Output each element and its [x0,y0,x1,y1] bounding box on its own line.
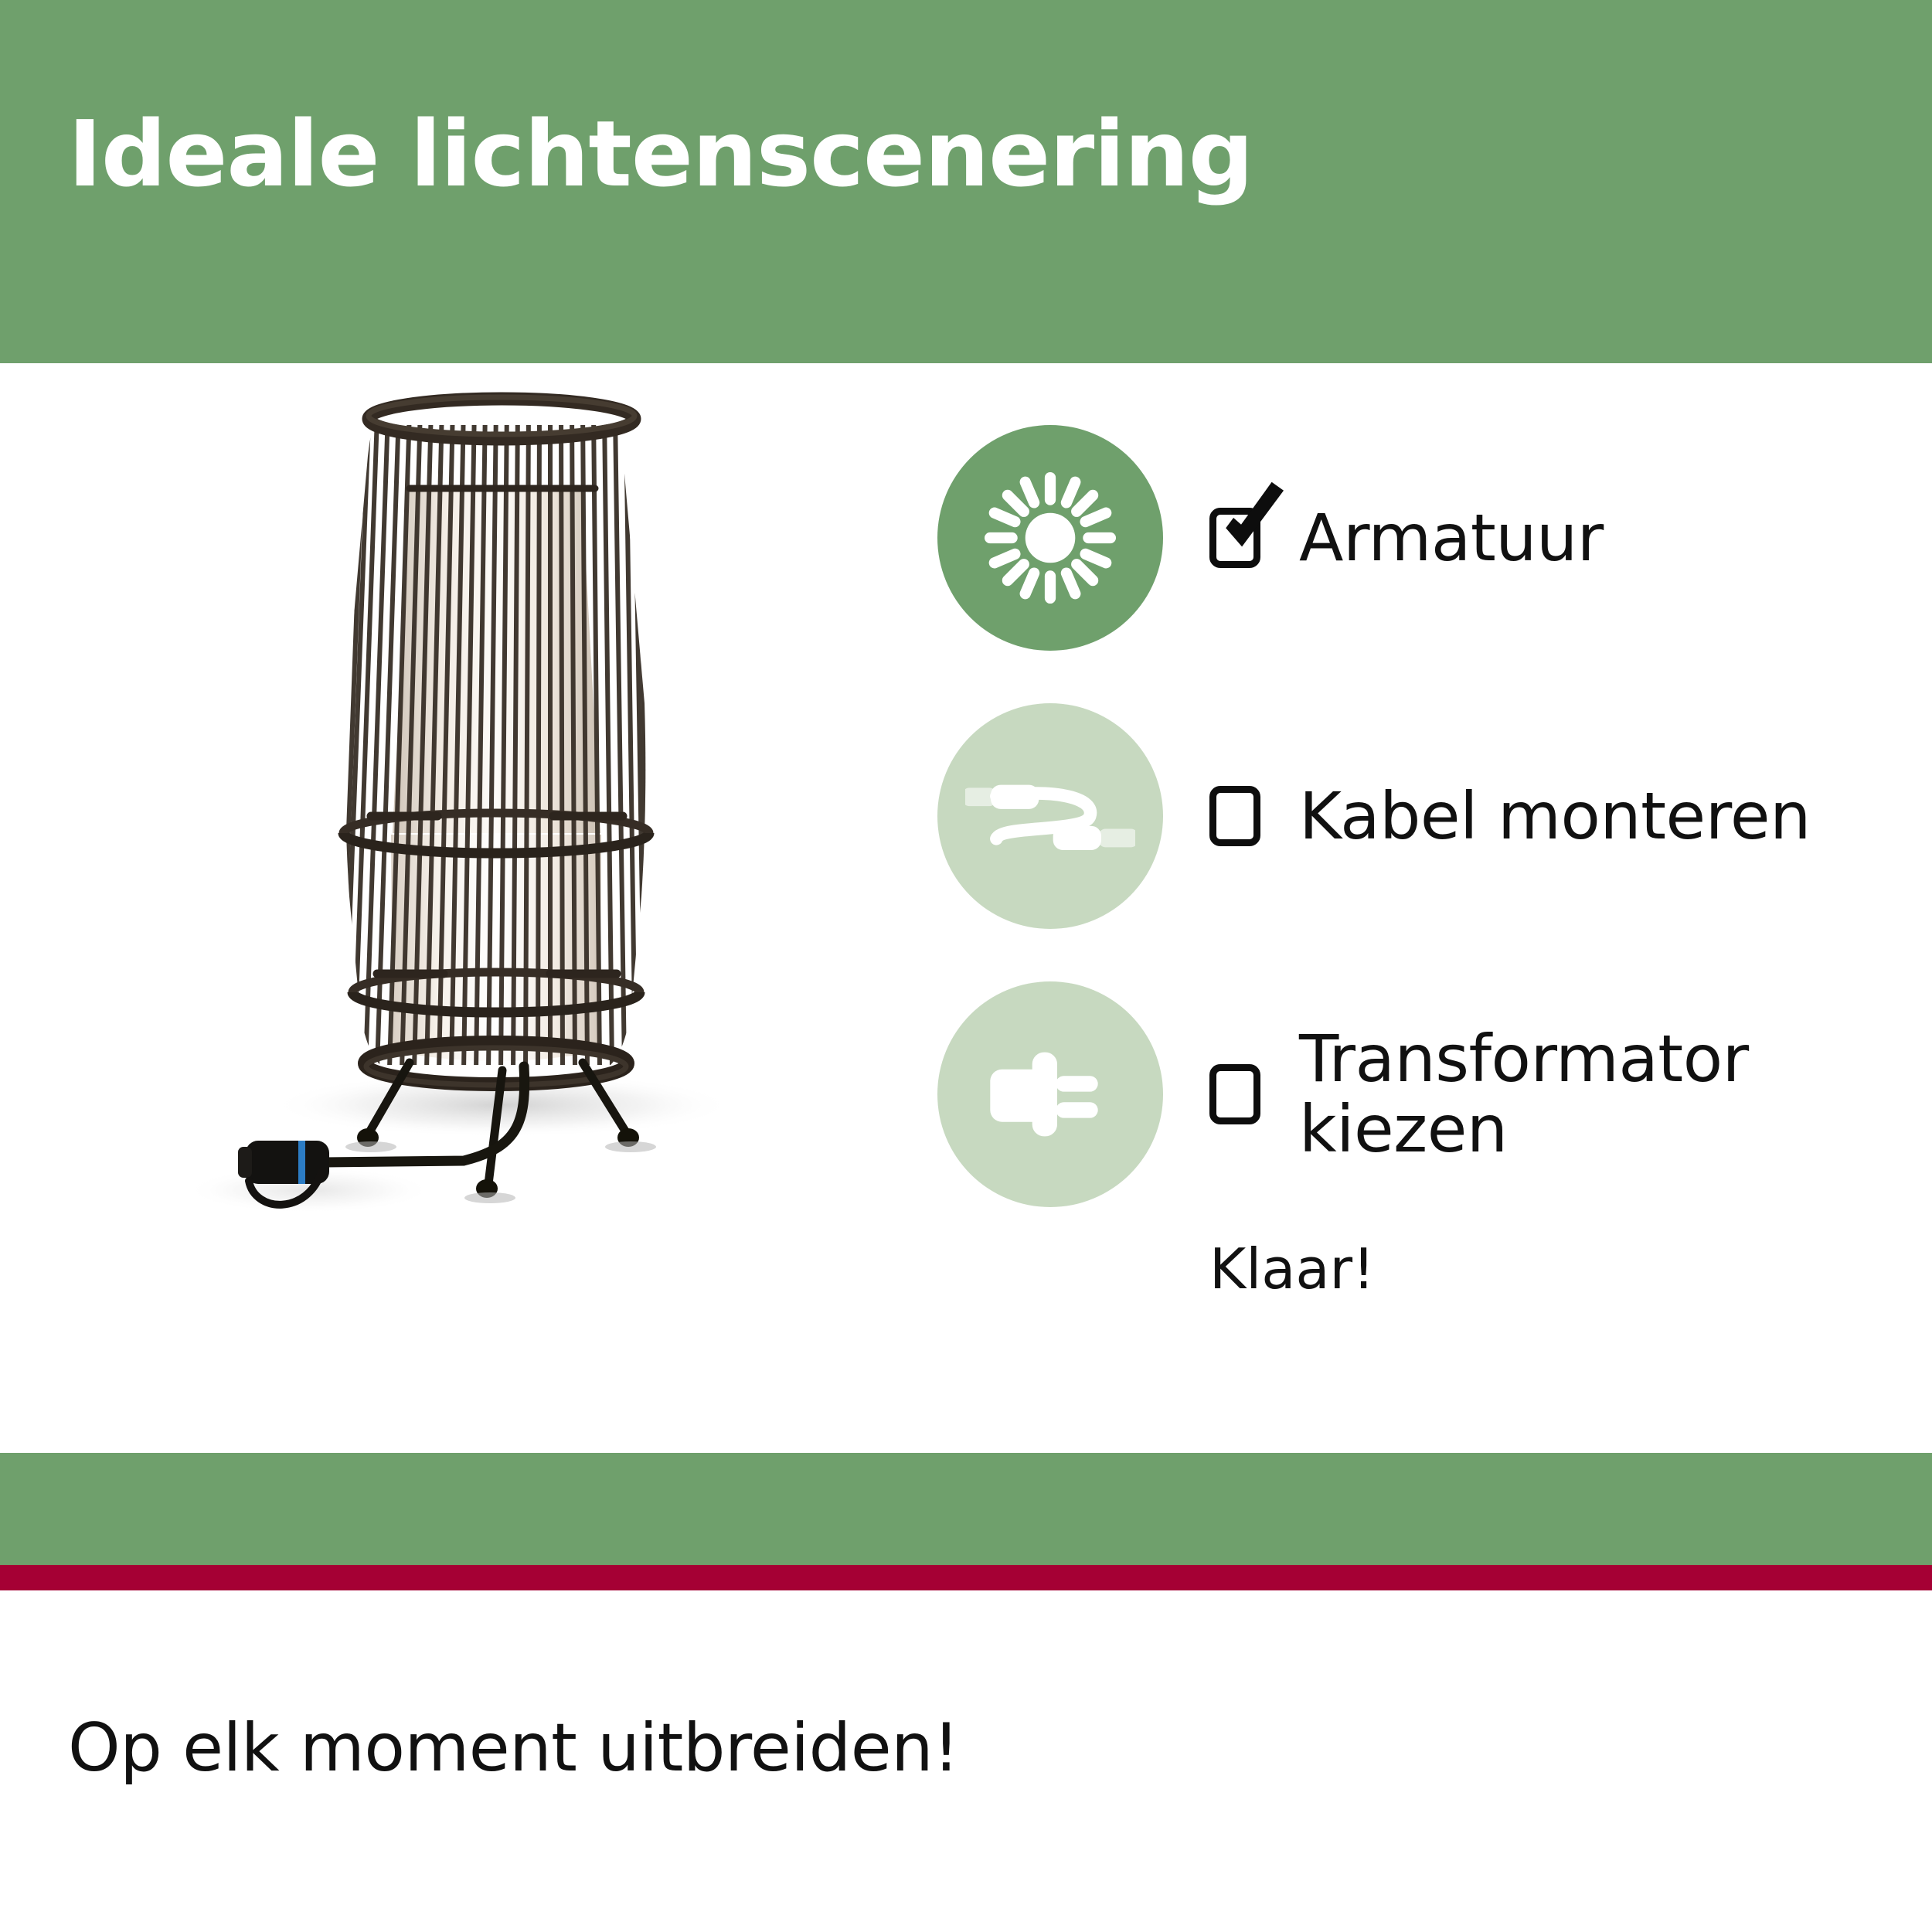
checklist-item-kabel[interactable]: Kabel monteren [1209,703,1811,929]
check-icon [1207,484,1292,569]
checklist-label-kabel: Kabel monteren [1299,781,1811,852]
checklist-label-armatuur: Armatuur [1299,503,1604,573]
done-label: Klaar! [1209,1236,1375,1301]
plug-icon [971,1029,1130,1160]
checklist-item-armatuur[interactable]: Armatuur [1209,425,1604,651]
main-content: Armatuur Kabel monteren [0,363,1932,1453]
checkbox-transformator[interactable] [1209,1064,1260,1124]
green-divider-band [0,1453,1932,1565]
sun-icon [977,464,1124,611]
checklist-label-transformator: Transformator kiezen [1299,1024,1749,1164]
checklist-row-kabel[interactable]: Kabel monteren [937,703,1865,981]
footer-text: Op elk moment uitbreiden! [68,1709,959,1787]
sun-icon-circle [937,425,1163,651]
checklist-item-transformator[interactable]: Transformator kiezen [1209,981,1749,1207]
checkbox-armatuur[interactable] [1209,508,1260,568]
red-divider-band [0,1565,1932,1590]
checklist-row-transformator[interactable]: Transformator kiezen [937,981,1865,1260]
installation-checklist: Armatuur Kabel monteren [937,425,1865,1260]
cable-icon [965,743,1135,889]
page-title: Ideale lichtenscenering [68,108,1253,199]
plug-icon-circle [937,981,1163,1207]
checkbox-kabel[interactable] [1209,786,1260,846]
product-image [178,371,819,1275]
cable-icon-circle [937,703,1163,929]
checklist-row-armatuur[interactable]: Armatuur [937,425,1865,703]
header-band: Ideale lichtenscenering [0,0,1932,363]
